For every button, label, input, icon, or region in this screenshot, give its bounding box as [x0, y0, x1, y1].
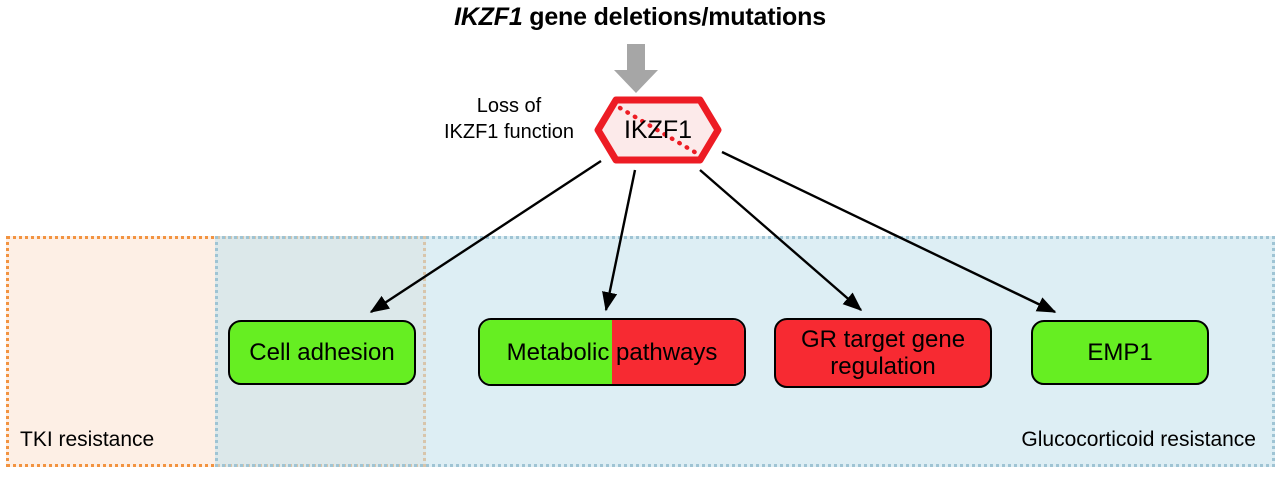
pathway-label-emp1: EMP1	[1083, 339, 1156, 366]
pathway-box-cell-adhesion[interactable]: Cell adhesion	[228, 320, 416, 385]
loss-caption-line-1: Loss of	[418, 93, 600, 119]
region-label-tki-resistance: TKI resistance	[20, 428, 154, 452]
pathway-box-metabolic-pathways[interactable]: Metabolic pathways	[478, 318, 746, 386]
ikzf1-hexagon-node[interactable]	[594, 96, 722, 164]
pathway-label-metabolic-pathways: Metabolic pathways	[503, 339, 722, 366]
pathway-diagram: IKZF1 gene deletions/mutations TKI resis…	[0, 0, 1280, 479]
title-gene-name: IKZF1	[454, 3, 522, 31]
gr-label-line-2: regulation	[830, 353, 935, 380]
loss-of-function-caption: Loss of IKZF1 function	[418, 93, 600, 145]
loss-caption-line-2: IKZF1 function	[418, 119, 600, 145]
down-block-arrow-icon	[612, 44, 660, 94]
pathway-label-cell-adhesion: Cell adhesion	[245, 339, 398, 366]
page-title: IKZF1 gene deletions/mutations	[0, 3, 1280, 32]
pathway-label-gr-target-gene-regulation: GR target gene regulation	[797, 326, 969, 380]
pathway-box-emp1[interactable]: EMP1	[1031, 320, 1209, 385]
region-label-glucocorticoid-resistance: Glucocorticoid resistance	[1021, 428, 1256, 452]
gr-label-line-1: GR target gene	[801, 326, 965, 353]
pathway-box-gr-target-gene-regulation[interactable]: GR target gene regulation	[774, 318, 992, 388]
title-rest: gene deletions/mutations	[523, 3, 826, 31]
